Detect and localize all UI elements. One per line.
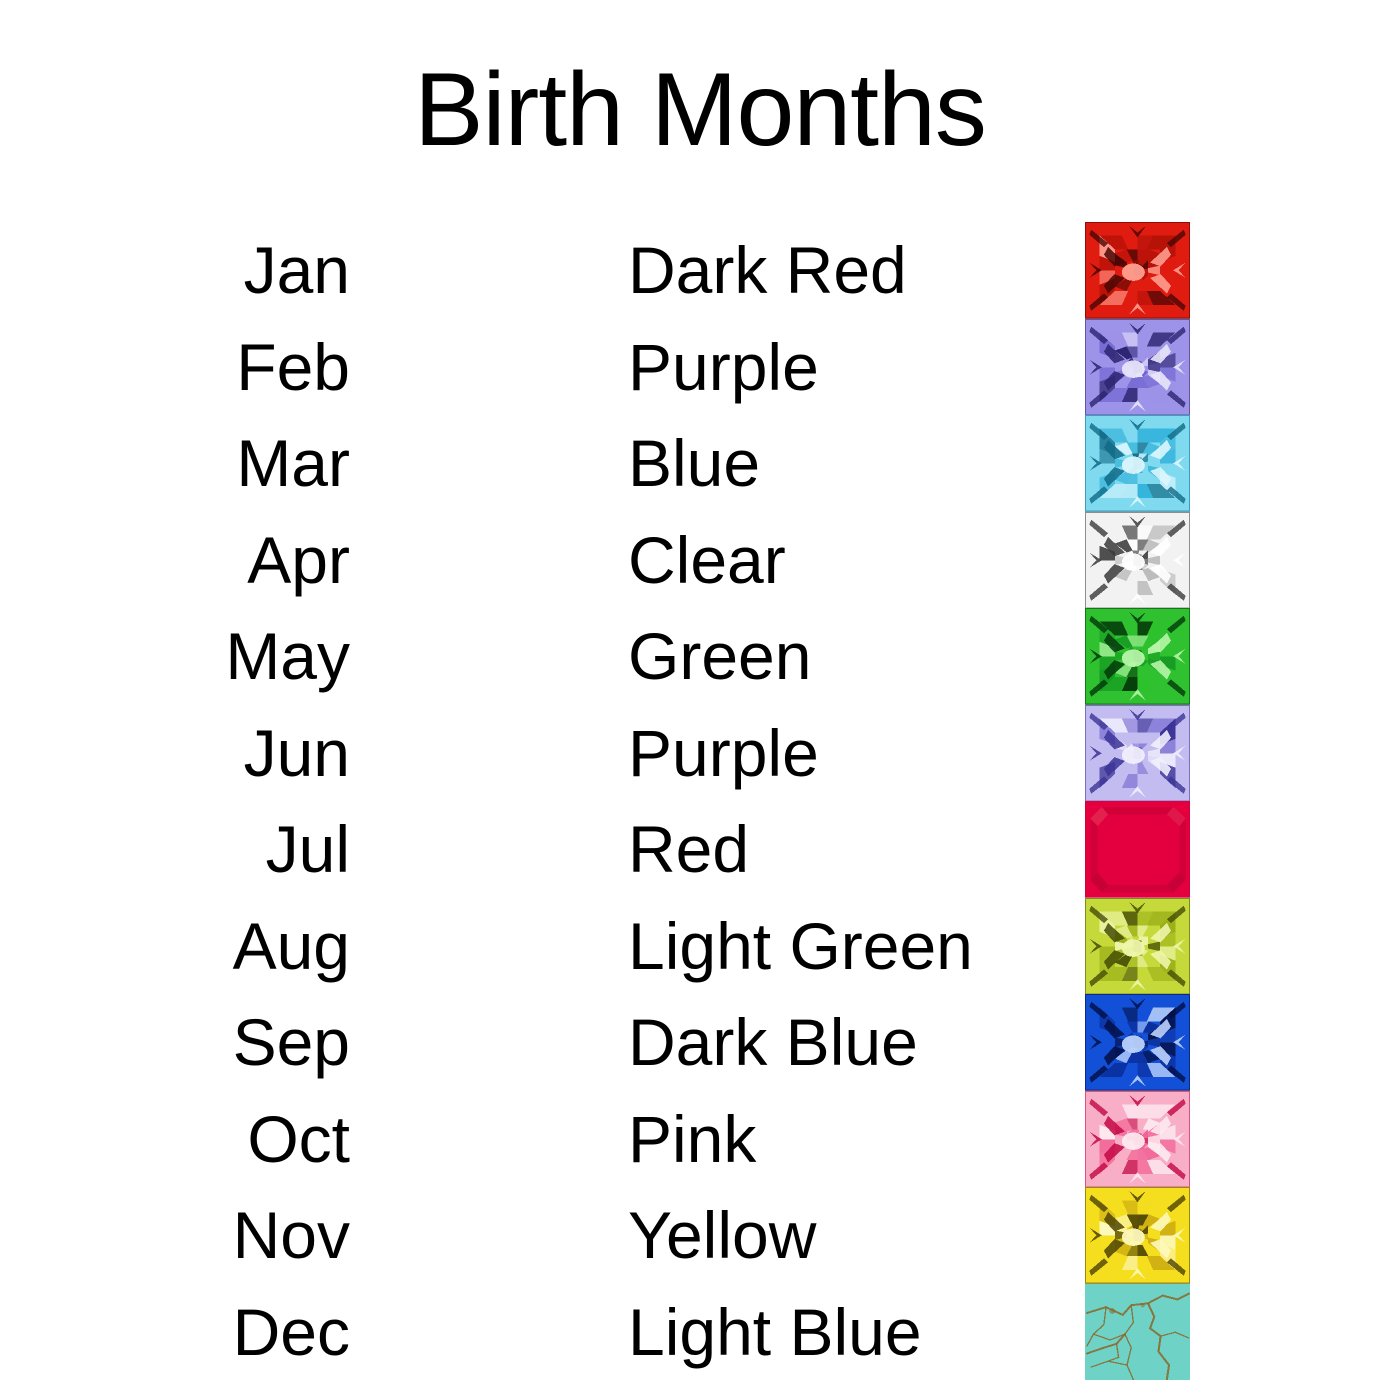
gemstone-icon [1085, 512, 1190, 609]
color-name-label: Purple [628, 720, 819, 786]
table-row: JanDark Red [0, 222, 1400, 319]
month-label: Dec [120, 1299, 350, 1365]
gemstone-icon [1085, 1187, 1190, 1284]
table-row: NovYellow [0, 1187, 1400, 1284]
table-row: JulRed [0, 801, 1400, 898]
table-row: OctPink [0, 1091, 1400, 1188]
color-name-label: Blue [628, 430, 760, 496]
table-row: SepDark Blue [0, 994, 1400, 1091]
color-name-label: Clear [628, 527, 786, 593]
gemstone-icon [1085, 898, 1190, 995]
gemstone-icon [1085, 222, 1190, 319]
page-title: Birth Months [0, 58, 1400, 162]
color-name-label: Purple [628, 334, 819, 400]
gemstone-icon [1085, 319, 1190, 416]
birth-months-chart: Birth Months JanDark RedFebPurpleMarBlue… [0, 0, 1400, 1400]
table-row: JunPurple [0, 705, 1400, 802]
table-row: AprClear [0, 512, 1400, 609]
table-row: DecLight Blue [0, 1284, 1400, 1381]
color-name-label: Dark Red [628, 237, 907, 303]
month-label: Jun [120, 720, 350, 786]
color-name-label: Red [628, 816, 749, 882]
month-label: Aug [120, 913, 350, 979]
month-label: Jul [120, 816, 350, 882]
month-label: May [120, 623, 350, 689]
gemstone-icon [1085, 801, 1190, 898]
color-name-label: Green [628, 623, 811, 689]
month-label: Apr [120, 527, 350, 593]
gemstone-icon [1085, 1284, 1190, 1381]
gemstone-icon [1085, 1091, 1190, 1188]
month-label: Jan [120, 237, 350, 303]
table-row: MarBlue [0, 415, 1400, 512]
color-name-label: Light Blue [628, 1299, 922, 1365]
month-label: Feb [120, 334, 350, 400]
month-label: Nov [120, 1202, 350, 1268]
color-name-label: Dark Blue [628, 1009, 918, 1075]
table-row: AugLight Green [0, 898, 1400, 995]
gemstone-icon [1085, 994, 1190, 1091]
month-label: Sep [120, 1009, 350, 1075]
gemstone-icon [1085, 415, 1190, 512]
gemstone-icon [1085, 705, 1190, 802]
table-row: FebPurple [0, 319, 1400, 416]
gemstone-icon [1085, 608, 1190, 705]
month-label: Mar [120, 430, 350, 496]
month-label: Oct [120, 1106, 350, 1172]
color-name-label: Yellow [628, 1202, 816, 1268]
birthstone-table: JanDark RedFebPurpleMarBlueAprClearMayGr… [0, 222, 1400, 1380]
color-name-label: Pink [628, 1106, 756, 1172]
color-name-label: Light Green [628, 913, 973, 979]
table-row: MayGreen [0, 608, 1400, 705]
